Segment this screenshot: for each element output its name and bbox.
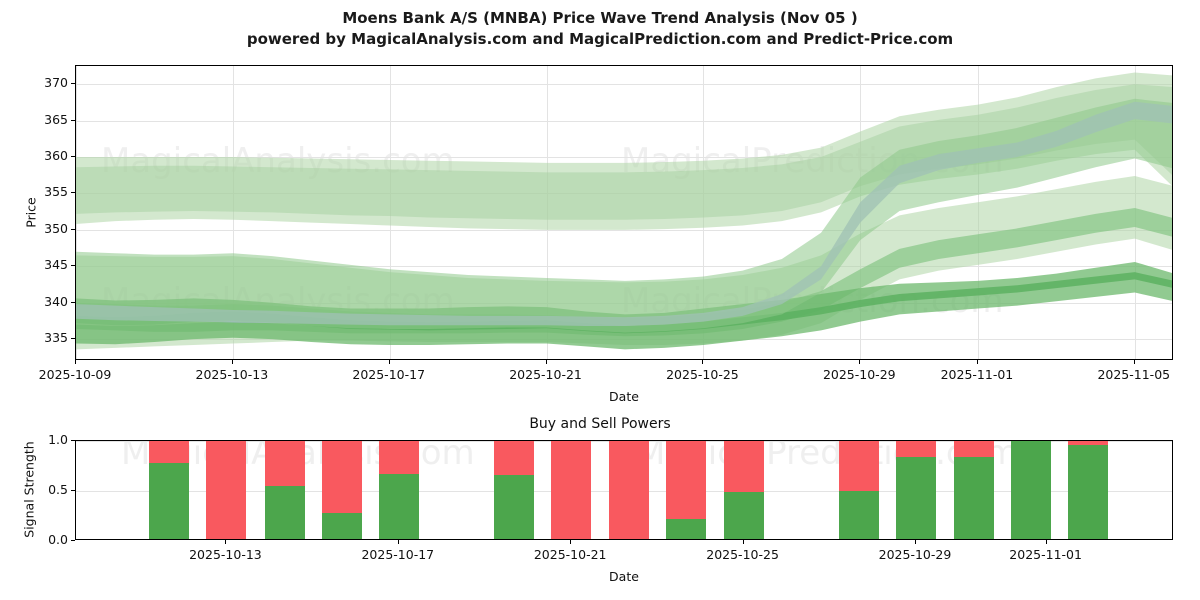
x-tick-label: 2025-10-21	[515, 547, 625, 562]
x-tick-label: 2025-10-09	[20, 367, 130, 382]
buy-power-segment	[896, 457, 936, 540]
x-tick-label: 2025-11-01	[922, 367, 1032, 382]
signal-bar[interactable]	[379, 441, 419, 540]
y-tick-label: 365	[20, 112, 68, 127]
buy-power-segment	[494, 475, 534, 540]
sell-power-segment	[494, 441, 534, 475]
buy-power-segment	[1011, 441, 1051, 540]
y-tick-label: 370	[20, 75, 68, 90]
buy-power-segment	[724, 492, 764, 540]
buy-power-segment	[149, 463, 189, 540]
signal-bar[interactable]	[206, 441, 246, 540]
signal-bar[interactable]	[265, 441, 305, 540]
signal-bar[interactable]	[1068, 441, 1108, 540]
x-tick-mark	[232, 360, 233, 364]
x-tick-mark	[1134, 360, 1135, 364]
x-tick-label: 2025-11-01	[991, 547, 1101, 562]
sell-power-segment	[839, 441, 879, 491]
x-tick-label: 2025-10-21	[491, 367, 601, 382]
sell-power-segment	[379, 441, 419, 474]
y-tick-label: 340	[20, 294, 68, 309]
y-tick-mark	[71, 302, 75, 303]
x-tick-label: 2025-10-25	[688, 547, 798, 562]
y-tick-mark	[71, 156, 75, 157]
buy-power-segment	[954, 457, 994, 540]
signal-bar[interactable]	[551, 441, 591, 540]
buy-sell-plot-area: MagicalAnalysis.comMagicalPrediction.com	[75, 440, 1173, 540]
y-tick-mark	[71, 338, 75, 339]
y-tick-mark	[71, 192, 75, 193]
x-tick-label: 2025-10-17	[334, 367, 444, 382]
buy-power-segment	[839, 491, 879, 540]
sell-power-segment	[666, 441, 706, 519]
buy-power-segment	[322, 513, 362, 540]
buy-power-segment	[265, 486, 305, 540]
sell-power-segment	[551, 441, 591, 540]
sell-power-segment	[322, 441, 362, 513]
main-price-panel: MagicalAnalysis.comMagicalPrediction.com…	[0, 0, 1200, 400]
x-tick-label: 2025-10-29	[860, 547, 970, 562]
x-tick-mark	[743, 540, 744, 544]
signal-bar[interactable]	[839, 441, 879, 540]
y-tick-mark	[71, 490, 75, 491]
sell-power-segment	[724, 441, 764, 492]
signal-bar[interactable]	[896, 441, 936, 540]
x-tick-mark	[570, 540, 571, 544]
x-tick-mark	[75, 360, 76, 364]
x-tick-mark	[225, 540, 226, 544]
chart-page: Moens Bank A/S (MNBA) Price Wave Trend A…	[0, 0, 1200, 600]
y-tick-mark	[71, 229, 75, 230]
buy-power-segment	[666, 519, 706, 540]
sell-power-segment	[206, 441, 246, 540]
x-tick-label: 2025-10-13	[170, 547, 280, 562]
x-tick-mark	[977, 360, 978, 364]
x-tick-mark	[1046, 540, 1047, 544]
sell-power-segment	[149, 441, 189, 463]
x-tick-mark	[702, 360, 703, 364]
y-tick-mark	[71, 265, 75, 266]
buy-sell-title: Buy and Sell Powers	[0, 416, 1200, 432]
buy-power-segment	[1068, 445, 1108, 540]
x-tick-mark	[859, 360, 860, 364]
signal-bar[interactable]	[954, 441, 994, 540]
x-tick-label: 2025-11-05	[1079, 367, 1189, 382]
signal-bar[interactable]	[322, 441, 362, 540]
y-tick-mark	[71, 120, 75, 121]
y-tick-label: 360	[20, 148, 68, 163]
sell-power-segment	[265, 441, 305, 486]
x-tick-mark	[546, 360, 547, 364]
y-tick-mark	[71, 440, 75, 441]
x-tick-mark	[915, 540, 916, 544]
buy-sell-panel: Buy and Sell Powers MagicalAnalysis.comM…	[0, 400, 1200, 600]
y-tick-label: 345	[20, 257, 68, 272]
signal-bar[interactable]	[1011, 441, 1051, 540]
x-tick-label: 2025-10-13	[177, 367, 287, 382]
y-tick-label: 335	[20, 330, 68, 345]
x-tick-label: 2025-10-29	[804, 367, 914, 382]
lower-y-axis-label: Signal Strength	[22, 425, 37, 555]
signal-bar[interactable]	[724, 441, 764, 540]
sell-power-segment	[896, 441, 936, 457]
signal-bar[interactable]	[494, 441, 534, 540]
sell-power-segment	[609, 441, 649, 540]
y-tick-mark	[71, 83, 75, 84]
price-wave-bands	[76, 66, 1173, 360]
x-tick-label: 2025-10-17	[343, 547, 453, 562]
y-tick-mark	[71, 540, 75, 541]
main-plot-area: MagicalAnalysis.comMagicalPrediction.com…	[75, 65, 1173, 360]
x-tick-label: 2025-10-25	[647, 367, 757, 382]
signal-bar[interactable]	[666, 441, 706, 540]
sell-power-segment	[954, 441, 994, 457]
signal-bar[interactable]	[609, 441, 649, 540]
lower-x-axis-label: Date	[574, 569, 674, 584]
main-y-axis-label: Price	[24, 173, 39, 253]
x-tick-mark	[398, 540, 399, 544]
x-tick-mark	[389, 360, 390, 364]
signal-bar[interactable]	[149, 441, 189, 540]
buy-power-segment	[379, 474, 419, 540]
